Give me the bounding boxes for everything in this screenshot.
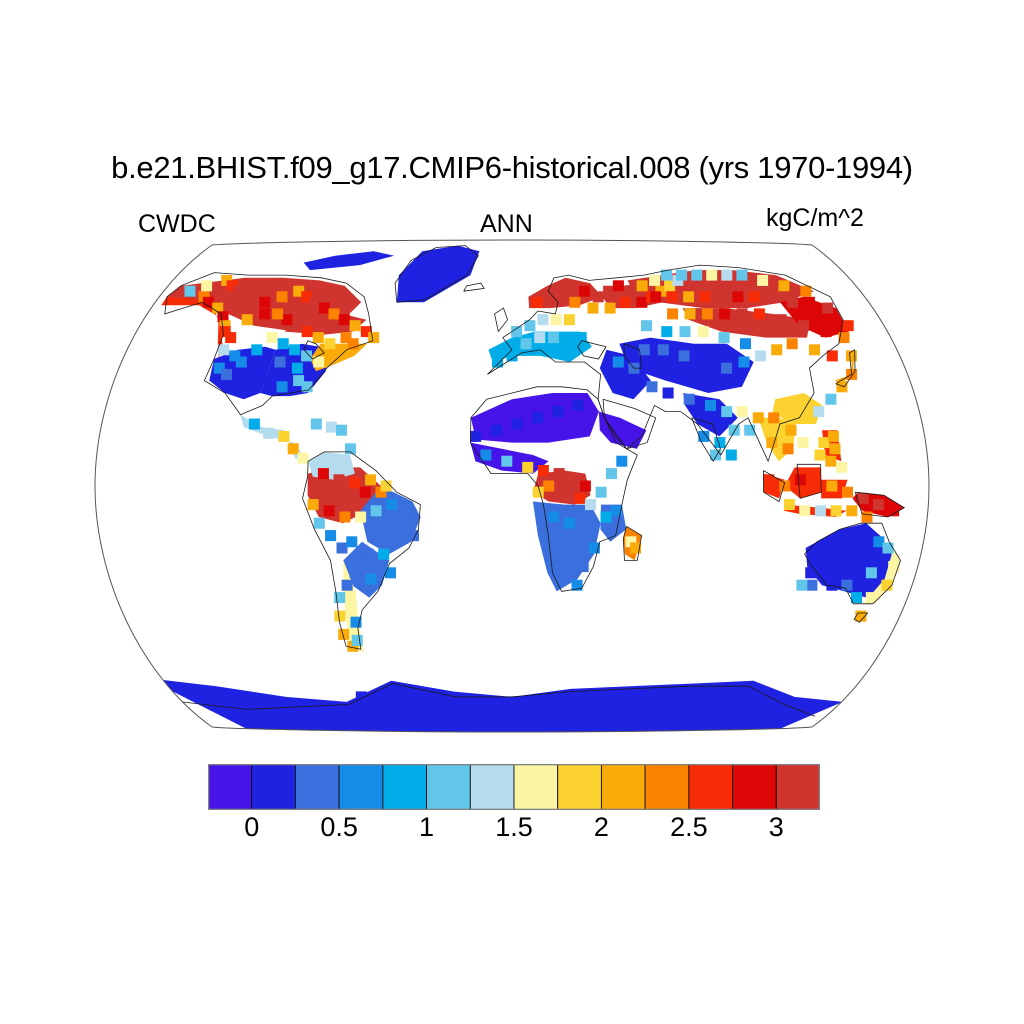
data-gridcell bbox=[324, 338, 335, 349]
data-gridcell bbox=[378, 549, 389, 560]
data-gridcell bbox=[346, 536, 357, 547]
data-gridcell bbox=[491, 425, 502, 436]
data-gridcell bbox=[679, 350, 690, 361]
data-gridcell bbox=[318, 468, 329, 479]
data-gridcell bbox=[806, 580, 817, 591]
data-gridcell bbox=[278, 431, 289, 442]
data-gridcell bbox=[888, 505, 899, 516]
data-gridcell bbox=[291, 320, 302, 331]
data-gridcell bbox=[700, 291, 711, 302]
data-gridcell bbox=[521, 338, 532, 349]
data-gridcell bbox=[386, 499, 397, 510]
map-svg bbox=[40, 236, 984, 736]
data-gridcell bbox=[249, 419, 260, 430]
data-gridcell bbox=[721, 363, 732, 374]
data-gridcell bbox=[251, 344, 262, 355]
data-gridcell bbox=[765, 291, 776, 302]
data-gridcell bbox=[548, 332, 559, 343]
data-gridcell bbox=[639, 344, 650, 355]
data-gridcell bbox=[263, 428, 274, 439]
data-gridcell bbox=[392, 518, 403, 529]
data-gridcell bbox=[381, 481, 392, 492]
colorbar-cell bbox=[776, 764, 820, 810]
data-gridcell bbox=[753, 412, 764, 423]
data-gridcell bbox=[862, 512, 873, 523]
data-gridcell bbox=[593, 291, 604, 302]
data-gridcell bbox=[737, 406, 748, 417]
data-gridcell bbox=[841, 580, 852, 591]
data-gridcell bbox=[700, 357, 711, 368]
data-gridcell bbox=[302, 326, 313, 337]
colorbar-tick-label: 1 bbox=[419, 812, 434, 843]
data-gridcell bbox=[818, 437, 829, 448]
data-gridcell bbox=[831, 505, 842, 516]
data-gridcell bbox=[726, 450, 737, 461]
data-gridcell bbox=[637, 280, 648, 291]
data-gridcell bbox=[825, 456, 836, 467]
data-gridcell bbox=[676, 270, 687, 281]
data-gridcell bbox=[580, 481, 591, 492]
figure-canvas: b.e21.BHIST.f09_g17.CMIP6-historical.008… bbox=[0, 0, 1024, 1024]
data-gridcell bbox=[522, 462, 533, 473]
data-gridcell bbox=[247, 297, 258, 308]
data-gridcell bbox=[337, 543, 348, 554]
data-gridcell bbox=[667, 291, 678, 302]
data-gridcell bbox=[738, 686, 749, 697]
data-gridcell bbox=[826, 481, 837, 492]
data-gridcell bbox=[705, 400, 716, 411]
data-gridcell bbox=[605, 303, 616, 314]
colorbar-cell bbox=[427, 764, 471, 810]
colorbar-cell bbox=[645, 764, 689, 810]
colorbar-tick-label: 1.5 bbox=[495, 812, 533, 843]
data-gridcell bbox=[601, 512, 612, 523]
data-gridcell bbox=[706, 270, 717, 281]
data-gridcell bbox=[698, 326, 709, 337]
data-gridcell bbox=[563, 338, 574, 349]
data-gridcell bbox=[691, 270, 702, 281]
data-gridcell bbox=[480, 450, 491, 461]
data-gridcell bbox=[330, 350, 341, 361]
data-gridcell bbox=[796, 580, 807, 591]
data-gridcell bbox=[548, 512, 559, 523]
data-gridcell bbox=[350, 320, 361, 331]
data-gridcell bbox=[501, 456, 512, 467]
data-gridcell bbox=[553, 543, 564, 554]
data-gridcell bbox=[636, 297, 647, 308]
data-gridcell bbox=[729, 425, 740, 436]
colorbar-tick-label: 0 bbox=[244, 812, 259, 843]
colorbar-cell bbox=[470, 764, 514, 810]
data-gridcell bbox=[326, 422, 337, 433]
data-gridcell bbox=[825, 394, 836, 405]
data-gridcell bbox=[533, 487, 544, 498]
data-gridcell bbox=[289, 344, 300, 355]
colorbar-cell bbox=[514, 764, 558, 810]
data-gridcell bbox=[568, 555, 579, 566]
data-gridcell bbox=[334, 611, 345, 622]
colorbar-tick-labels: 00.511.522.53 bbox=[208, 812, 820, 852]
data-gridcell bbox=[661, 326, 672, 337]
data-gridcell bbox=[800, 286, 811, 297]
data-gridcell bbox=[804, 297, 815, 308]
data-gridcell bbox=[883, 543, 894, 554]
data-gridcell bbox=[749, 291, 760, 302]
data-gridcell bbox=[402, 512, 413, 523]
data-gridcell bbox=[620, 297, 631, 308]
colorbar-cell bbox=[339, 764, 383, 810]
data-gridcell bbox=[603, 286, 614, 297]
data-gridcell bbox=[821, 326, 832, 337]
data-gridcell bbox=[543, 481, 554, 492]
data-gridcell bbox=[311, 419, 322, 430]
world-map bbox=[40, 236, 984, 736]
data-gridcell bbox=[551, 314, 562, 325]
data-gridcell bbox=[339, 512, 350, 523]
data-gridcell bbox=[830, 443, 841, 454]
data-gridcell bbox=[606, 468, 617, 479]
data-gridcell bbox=[840, 549, 851, 560]
colorbar-cell bbox=[601, 764, 645, 810]
data-gridcell bbox=[836, 567, 847, 578]
data-gridcell bbox=[339, 314, 350, 325]
data-gridcell bbox=[888, 561, 899, 572]
data-gridcell bbox=[585, 499, 596, 510]
data-gridcell bbox=[334, 474, 345, 485]
data-gridcell bbox=[555, 286, 566, 297]
data-gridcell bbox=[564, 314, 575, 325]
data-gridcell bbox=[371, 505, 382, 516]
data-gridcell bbox=[267, 332, 278, 343]
data-gridcell bbox=[739, 357, 750, 368]
data-gridcell bbox=[277, 291, 288, 302]
data-gridcell bbox=[836, 381, 847, 392]
data-gridcell bbox=[470, 431, 481, 442]
data-gridcell bbox=[538, 465, 549, 476]
data-gridcell bbox=[719, 308, 730, 319]
data-gridcell bbox=[798, 320, 809, 331]
data-gridcell bbox=[345, 443, 356, 454]
data-gridcell bbox=[809, 344, 820, 355]
page-title: b.e21.BHIST.f09_g17.CMIP6-historical.008… bbox=[0, 150, 1024, 186]
data-gridcell bbox=[366, 574, 377, 585]
data-gridcell bbox=[820, 567, 831, 578]
data-gridcell bbox=[582, 691, 593, 702]
colorbar bbox=[208, 764, 820, 810]
data-gridcell bbox=[566, 280, 577, 291]
data-gridcell bbox=[360, 487, 371, 498]
data-gridcell bbox=[573, 400, 584, 411]
data-gridcell bbox=[702, 308, 713, 319]
data-gridcell bbox=[225, 332, 236, 343]
data-gridcell bbox=[553, 406, 564, 417]
data-gridcell bbox=[787, 297, 798, 308]
data-gridcell bbox=[813, 406, 824, 417]
data-gridcell bbox=[259, 308, 270, 319]
data-gridcell bbox=[736, 270, 747, 281]
data-gridcell bbox=[740, 338, 751, 349]
data-gridcell bbox=[559, 487, 570, 498]
data-gridcell bbox=[778, 280, 789, 291]
data-gridcell bbox=[776, 314, 787, 325]
colorbar-tick-label: 2 bbox=[594, 812, 609, 843]
data-gridcell bbox=[768, 412, 779, 423]
data-gridcell bbox=[272, 308, 283, 319]
colorbar-cell bbox=[689, 764, 733, 810]
data-gridcell bbox=[313, 332, 324, 343]
data-gridcell bbox=[278, 338, 289, 349]
data-gridcell bbox=[298, 453, 309, 464]
colorbar-cell bbox=[558, 764, 602, 810]
data-gridcell bbox=[575, 493, 586, 504]
data-gridcell bbox=[385, 567, 396, 578]
data-gridcell bbox=[221, 369, 232, 380]
data-gridcell bbox=[732, 291, 743, 302]
data-gridcell bbox=[218, 344, 229, 355]
data-gridcell bbox=[613, 280, 624, 291]
data-gridcell bbox=[828, 431, 839, 442]
data-gridcell bbox=[836, 462, 847, 473]
data-gridcell bbox=[277, 381, 288, 392]
data-gridcell bbox=[578, 561, 589, 572]
data-gridcell bbox=[185, 286, 196, 297]
colorbar-cell bbox=[295, 764, 339, 810]
data-gridcell bbox=[815, 450, 826, 461]
data-gridcell bbox=[842, 487, 853, 498]
data-gridcell bbox=[843, 320, 854, 331]
data-gridcell bbox=[259, 297, 270, 308]
colorbar-cell bbox=[252, 764, 296, 810]
data-gridcell bbox=[564, 518, 575, 529]
colorbar-tick-label: 0.5 bbox=[320, 812, 358, 843]
colorbar-cell bbox=[733, 764, 777, 810]
data-gridcell bbox=[799, 412, 810, 423]
data-gridcell bbox=[352, 635, 363, 646]
data-gridcell bbox=[363, 549, 374, 560]
data-gridcell bbox=[512, 419, 523, 430]
data-gridcell bbox=[754, 308, 765, 319]
data-gridcell bbox=[667, 308, 678, 319]
data-gridcell bbox=[325, 530, 336, 541]
data-gridcell bbox=[355, 512, 366, 523]
data-gridcell bbox=[793, 701, 804, 712]
colorbar-svg bbox=[208, 764, 820, 810]
data-gridcell bbox=[579, 524, 590, 535]
data-gridcell bbox=[650, 291, 661, 302]
data-gridcell bbox=[288, 443, 299, 454]
data-gridcell bbox=[857, 543, 868, 554]
data-gridcell bbox=[579, 286, 590, 297]
data-gridcell bbox=[251, 369, 262, 380]
data-gridcell bbox=[328, 487, 339, 498]
data-gridcell bbox=[719, 332, 730, 343]
data-gridcell bbox=[588, 303, 599, 314]
data-gridcell bbox=[557, 574, 568, 585]
data-gridcell bbox=[344, 493, 355, 504]
data-gridcell bbox=[242, 314, 253, 325]
colorbar-cell bbox=[383, 764, 427, 810]
data-gridcell bbox=[349, 477, 360, 488]
data-gridcell bbox=[350, 567, 361, 578]
data-gridcell bbox=[881, 580, 892, 591]
data-gridcell bbox=[737, 308, 748, 319]
data-gridcell bbox=[229, 350, 240, 361]
data-gridcell bbox=[313, 481, 324, 492]
variable-label: CWDC bbox=[138, 210, 216, 239]
data-gridcell bbox=[365, 474, 376, 485]
data-gridcell bbox=[873, 499, 884, 510]
colorbar-tick-label: 2.5 bbox=[670, 812, 708, 843]
data-gridcell bbox=[319, 303, 330, 314]
data-gridcell bbox=[683, 291, 694, 302]
data-gridcell bbox=[825, 549, 836, 560]
data-gridcell bbox=[798, 437, 809, 448]
data-gridcell bbox=[616, 456, 627, 467]
data-gridcell bbox=[534, 332, 545, 343]
data-gridcell bbox=[647, 381, 658, 392]
data-gridcell bbox=[757, 275, 768, 286]
data-gridcell bbox=[658, 344, 669, 355]
data-gridcell bbox=[596, 487, 607, 498]
data-gridcell bbox=[569, 474, 580, 485]
data-gridcell bbox=[927, 604, 938, 615]
data-gridcell bbox=[201, 280, 212, 291]
data-gridcell bbox=[308, 499, 319, 510]
data-gridcell bbox=[783, 443, 794, 454]
coastline bbox=[902, 595, 946, 629]
season-label: ANN bbox=[480, 210, 533, 239]
data-gridcell bbox=[507, 696, 518, 707]
data-gridcell bbox=[507, 350, 518, 361]
data-gridcell bbox=[771, 344, 782, 355]
data-gridcell bbox=[721, 406, 732, 417]
data-gridcell bbox=[846, 505, 857, 516]
data-gridcell bbox=[906, 617, 917, 628]
data-gridcell bbox=[858, 493, 869, 504]
data-gridcell bbox=[649, 275, 660, 286]
data-gridcell bbox=[342, 580, 353, 591]
data-gridcell bbox=[613, 357, 624, 368]
data-gridcell bbox=[784, 499, 795, 510]
data-gridcell bbox=[779, 481, 790, 492]
data-gridcell bbox=[721, 270, 732, 281]
data-gridcell bbox=[787, 338, 798, 349]
data-gridcell bbox=[799, 505, 810, 516]
data-gridcell bbox=[537, 314, 548, 325]
data-gridcell bbox=[569, 297, 580, 308]
data-gridcell bbox=[684, 394, 695, 405]
data-gridcell bbox=[815, 505, 826, 516]
data-gridcell bbox=[232, 381, 243, 392]
data-gridcell bbox=[292, 363, 303, 374]
data-gridcell bbox=[511, 326, 522, 337]
data-gridcell bbox=[866, 567, 877, 578]
data-gridcell bbox=[811, 481, 822, 492]
data-gridcell bbox=[324, 505, 335, 516]
colorbar-cell bbox=[208, 764, 252, 810]
data-gridcell bbox=[336, 425, 347, 436]
data-gridcell bbox=[275, 357, 286, 368]
data-gridcell bbox=[641, 320, 652, 331]
data-gridcell bbox=[786, 425, 797, 436]
data-gridcell bbox=[314, 518, 325, 529]
data-gridcell bbox=[795, 474, 806, 485]
data-gridcell bbox=[928, 595, 939, 606]
data-gridcell bbox=[663, 388, 674, 399]
data-gridcell bbox=[532, 297, 543, 308]
data-gridcell bbox=[329, 308, 340, 319]
data-gridcell bbox=[532, 412, 543, 423]
data-gridcell bbox=[716, 291, 727, 302]
data-gridcell bbox=[680, 326, 691, 337]
data-gridcell bbox=[685, 308, 696, 319]
data-gridcell bbox=[755, 350, 766, 361]
colorbar-tick-label: 3 bbox=[769, 812, 784, 843]
data-gridcell bbox=[822, 303, 833, 314]
data-gridcell bbox=[809, 549, 820, 560]
data-gridcell bbox=[851, 567, 862, 578]
units-label: kgC/m^2 bbox=[766, 204, 864, 233]
data-gridcell bbox=[554, 468, 565, 479]
data-gridcell bbox=[263, 375, 274, 386]
